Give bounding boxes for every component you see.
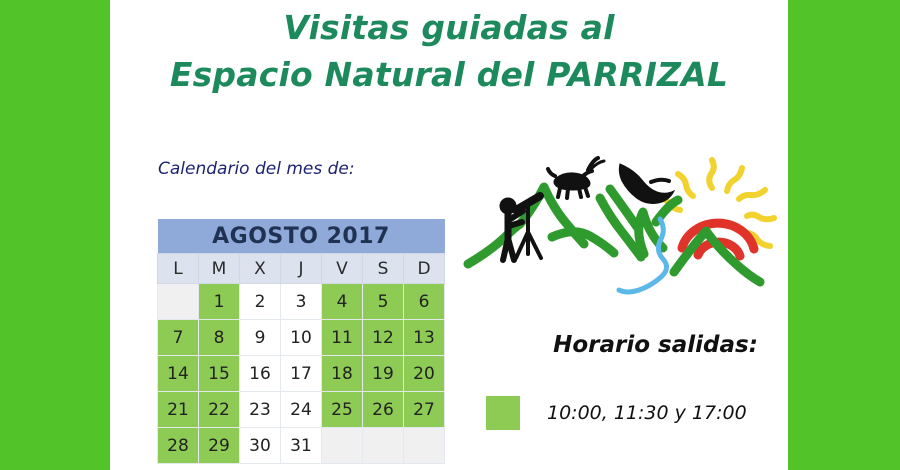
left-green-band	[0, 0, 110, 470]
calendar-table: AGOSTO 2017 L M X J V S D 1 2 3 4	[157, 219, 445, 464]
calendar-day-cell[interactable]: 3	[281, 284, 322, 320]
calendar-day-cell[interactable]: 30	[240, 428, 281, 464]
calendar-day-cell[interactable]: 8	[199, 320, 240, 356]
calendar-day-cell[interactable]: 20	[404, 356, 445, 392]
calendar-day-cell[interactable]: 5	[363, 284, 404, 320]
calendar-day-cell[interactable]: 29	[199, 428, 240, 464]
calendar-day-cell[interactable]: 15	[199, 356, 240, 392]
calendar-day-cell[interactable]: 19	[363, 356, 404, 392]
calendar-week-row: 28 29 30 31	[158, 428, 445, 464]
calendar-day-cell[interactable]: 16	[240, 356, 281, 392]
nature-park-logo	[460, 136, 780, 301]
calendar-day-cell[interactable]: 17	[281, 356, 322, 392]
calendar-day-cell[interactable]: 22	[199, 392, 240, 428]
weekday-D: D	[404, 254, 445, 284]
weekday-M: M	[199, 254, 240, 284]
calendar-day-cell[interactable]: 6	[404, 284, 445, 320]
calendar-day-cell[interactable]: 2	[240, 284, 281, 320]
calendar-day-cell[interactable]: 23	[240, 392, 281, 428]
page-title-line2: Espacio Natural del PARRIZAL	[110, 51, 788, 98]
calendar-day-cell[interactable]: 14	[158, 356, 199, 392]
calendar-month-header: AGOSTO 2017	[158, 219, 445, 254]
calendar-month-label: AGOSTO 2017	[158, 219, 445, 254]
calendar-day-cell[interactable]: 18	[322, 356, 363, 392]
schedule-times: 10:00, 11:30 y 17:00	[547, 402, 747, 424]
calendar-day-cell[interactable]: 24	[281, 392, 322, 428]
calendar-week-row: 21 22 23 24 25 26 27	[158, 392, 445, 428]
calendar-day-cell[interactable]: 13	[404, 320, 445, 356]
calendar-week-row: 7 8 9 10 11 12 13	[158, 320, 445, 356]
weekday-S: S	[363, 254, 404, 284]
calendar-week-row: 14 15 16 17 18 19 20	[158, 356, 445, 392]
calendar-caption: Calendario del mes de:	[158, 159, 355, 179]
weekday-V: V	[322, 254, 363, 284]
calendar-day-cell[interactable]: 27	[404, 392, 445, 428]
calendar-day-cell[interactable]: 9	[240, 320, 281, 356]
calendar-day-cell[interactable]: 31	[281, 428, 322, 464]
calendar-day-cell[interactable]: 1	[199, 284, 240, 320]
calendar-weekday-header: L M X J V S D	[158, 254, 445, 284]
calendar-day-cell	[158, 284, 199, 320]
calendar-day-cell[interactable]: 21	[158, 392, 199, 428]
calendar-day-cell	[404, 428, 445, 464]
calendar-day-cell[interactable]: 25	[322, 392, 363, 428]
calendar-day-cell[interactable]: 26	[363, 392, 404, 428]
schedule-legend-row: 10:00, 11:30 y 17:00	[486, 396, 747, 430]
calendar-day-cell[interactable]: 12	[363, 320, 404, 356]
weekday-X: X	[240, 254, 281, 284]
eagle-icon	[619, 164, 674, 204]
calendar-day-cell	[322, 428, 363, 464]
page-title: Visitas guiadas al Espacio Natural del P…	[110, 4, 788, 98]
schedule-title: Horario salidas:	[523, 332, 788, 358]
calendar-day-cell	[363, 428, 404, 464]
page-title-line1: Visitas guiadas al	[110, 4, 788, 51]
calendar-day-cell[interactable]: 28	[158, 428, 199, 464]
calendar-day-cell[interactable]: 10	[281, 320, 322, 356]
weekday-L: L	[158, 254, 199, 284]
calendar-day-cell[interactable]: 7	[158, 320, 199, 356]
legend-color-swatch	[486, 396, 520, 430]
right-green-band	[788, 0, 900, 470]
weekday-J: J	[281, 254, 322, 284]
calendar-day-cell[interactable]: 4	[322, 284, 363, 320]
poster-root: Visitas guiadas al Espacio Natural del P…	[0, 0, 900, 470]
calendar-day-cell[interactable]: 11	[322, 320, 363, 356]
poster-stage: Visitas guiadas al Espacio Natural del P…	[110, 0, 788, 470]
calendar-week-row: 1 2 3 4 5 6	[158, 284, 445, 320]
ibex-icon	[548, 158, 604, 198]
